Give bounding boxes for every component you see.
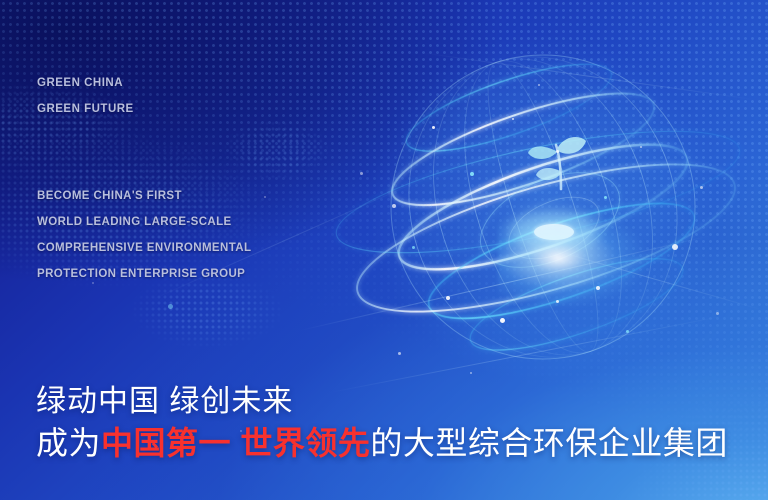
headline-prefix: 成为 — [36, 425, 101, 461]
mission-line: PROTECTION ENTERPRISE GROUP — [37, 261, 251, 287]
hero-banner: GREEN CHINA GREEN FUTURE BECOME CHINA'S … — [0, 0, 768, 500]
tagline-line: GREEN FUTURE — [37, 96, 134, 122]
tagline-line: GREEN CHINA — [37, 70, 134, 96]
mission-line: WORLD LEADING LARGE-SCALE — [37, 209, 251, 235]
mission-statement-english: BECOME CHINA'S FIRST WORLD LEADING LARGE… — [37, 183, 251, 287]
headline-suffix: 的大型综合环保企业集团 — [370, 425, 728, 461]
tagline-english: GREEN CHINA GREEN FUTURE — [37, 70, 134, 122]
headline-line-1: 绿动中国 绿创未来 — [36, 382, 728, 422]
headline-line-2: 成为中国第一 世界领先的大型综合环保企业集团 — [36, 422, 728, 464]
mission-line: BECOME CHINA'S FIRST — [37, 183, 251, 209]
headline-highlight: 中国第一 世界领先 — [101, 425, 370, 461]
mission-line: COMPREHENSIVE ENVIRONMENTAL — [37, 235, 251, 261]
headline-chinese: 绿动中国 绿创未来 成为中国第一 世界领先的大型综合环保企业集团 — [36, 382, 728, 464]
